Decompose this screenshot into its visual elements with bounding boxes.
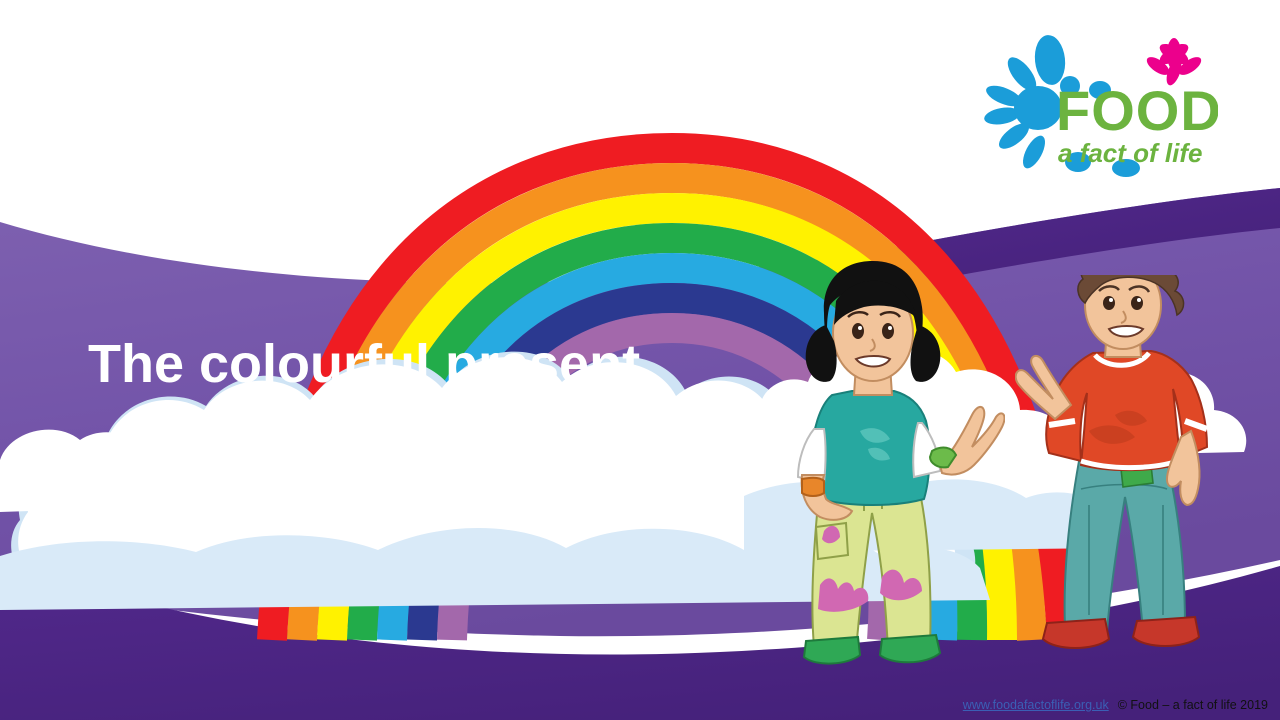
footer-website-link[interactable]: www.foodafactoflife.org.uk: [963, 698, 1109, 712]
logo-tagline: a fact of life: [1058, 138, 1202, 168]
boy-eye-right: [1131, 296, 1143, 310]
page-title: The colourful present: [88, 330, 788, 398]
girl-pigtail-right: [911, 325, 941, 382]
boy-shoe-left: [1043, 619, 1109, 648]
girl-top: [812, 391, 930, 505]
girl-eye-left: [852, 323, 864, 339]
girl-eye-right: [882, 323, 894, 339]
girl-shoe-right: [880, 635, 940, 662]
boy-shoe-right: [1133, 617, 1199, 646]
girl-character: [790, 255, 1005, 670]
girl-pigtail-left: [806, 325, 837, 382]
logo-wordmark: FOOD: [1056, 79, 1218, 142]
boy-sleeve-cuff-left: [1049, 421, 1075, 425]
footer: www.foodafactoflife.org.uk © Food – a fa…: [963, 698, 1268, 712]
girl-shoe-left: [804, 637, 860, 664]
logo: FOOD a fact of life: [978, 20, 1218, 180]
girl-wristband: [802, 478, 824, 496]
boy-eye-left: [1103, 296, 1115, 310]
footer-copyright: © Food – a fact of life 2019: [1118, 698, 1268, 712]
slide: The colourful present: [0, 0, 1280, 720]
boy-character: [1015, 275, 1230, 665]
